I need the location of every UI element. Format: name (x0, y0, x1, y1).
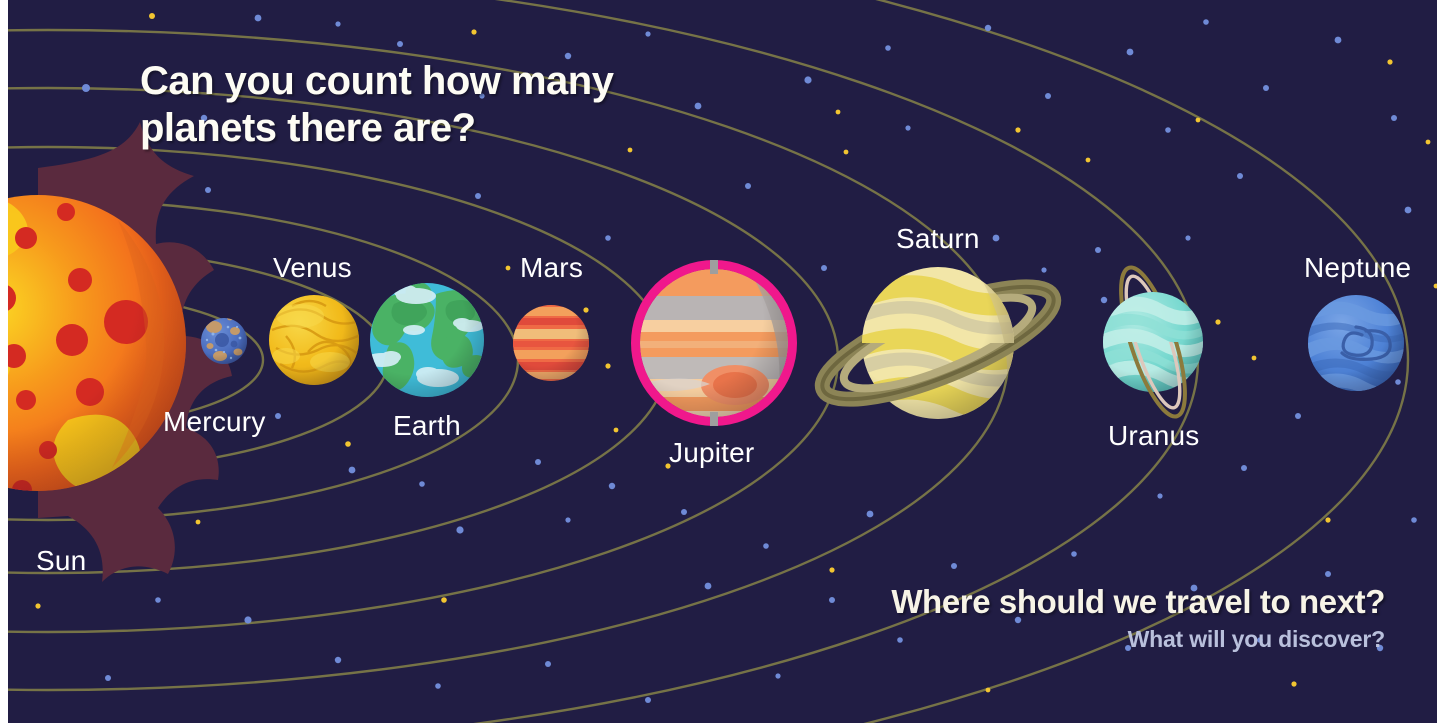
label-saturn: Saturn (896, 223, 980, 255)
label-mars: Mars (520, 252, 583, 284)
headline: Can you count how many planets there are… (140, 58, 660, 152)
label-sun: Sun (36, 545, 86, 577)
body-neptune[interactable] (1304, 295, 1416, 401)
body-venus[interactable] (269, 295, 366, 385)
space-background: Can you count how many planets there are… (8, 0, 1437, 723)
label-neptune: Neptune (1304, 252, 1411, 284)
mars-surface (508, 296, 598, 381)
label-jupiter: Jupiter (669, 437, 754, 469)
venus-surface (269, 295, 366, 385)
body-mercury[interactable] (201, 316, 247, 364)
page-gutter-left (0, 0, 8, 723)
label-earth: Earth (393, 410, 461, 442)
footer-subquestion: What will you discover? (891, 626, 1385, 654)
headline-line-2: planets there are? (140, 105, 660, 152)
body-uranus[interactable] (1098, 261, 1214, 423)
body-sun[interactable] (8, 122, 232, 582)
label-mercury: Mercury (163, 406, 266, 438)
uranus-surface (1098, 292, 1214, 392)
neptune-surface (1304, 295, 1416, 401)
poster-canvas: Can you count how many planets there are… (0, 0, 1445, 723)
mercury-surface (201, 316, 247, 364)
footer-question: Where should we travel to next? (891, 582, 1385, 622)
footer-prompt: Where should we travel to next? What wil… (891, 582, 1385, 653)
body-mars[interactable] (508, 296, 598, 381)
selection-ring-gap-bottom (710, 412, 718, 426)
body-saturn[interactable] (810, 265, 1065, 474)
page-gutter-right (1437, 0, 1445, 723)
headline-line-1: Can you count how many (140, 58, 660, 105)
label-uranus: Uranus (1108, 420, 1199, 452)
label-venus: Venus (273, 252, 352, 284)
selection-ring-gap-top (710, 260, 718, 274)
